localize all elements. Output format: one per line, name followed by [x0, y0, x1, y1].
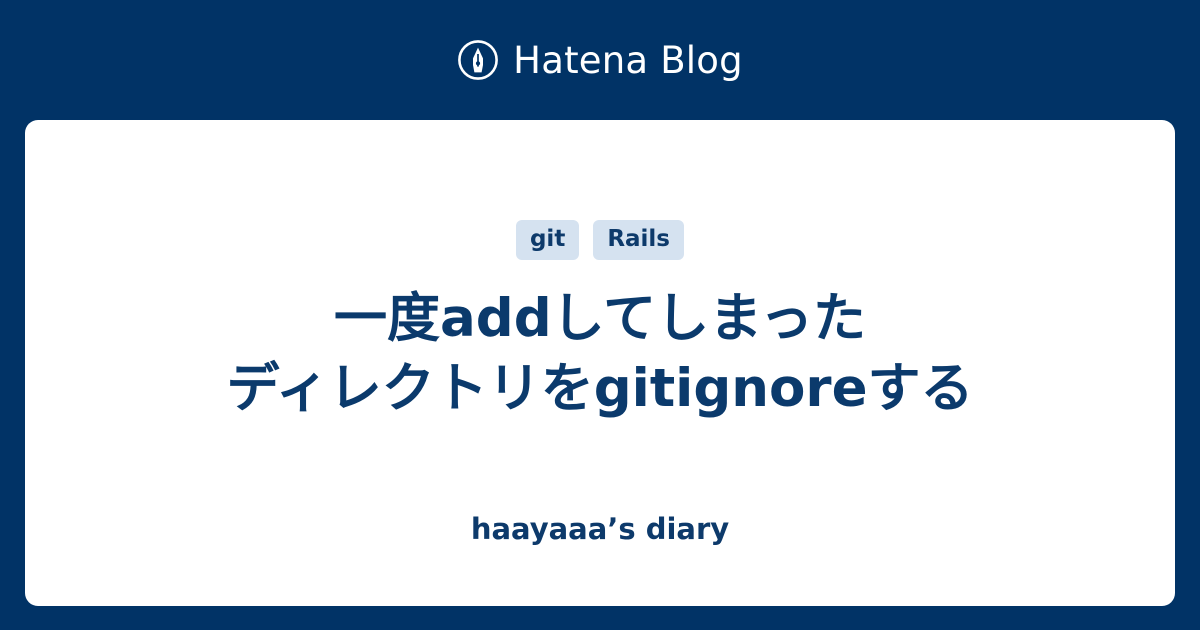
- entry-title: 一度addしてしまった ディレクトリをgitignoreする: [95, 284, 1105, 425]
- tag-rails[interactable]: Rails: [593, 220, 684, 260]
- tag-list: git Rails: [516, 217, 684, 262]
- brand-name: Hatena Blog: [513, 42, 743, 79]
- tag-git[interactable]: git: [516, 220, 579, 260]
- hatena-fountain-pen-icon: [457, 39, 499, 81]
- entry-title-line-1: 一度addしてしまった: [95, 284, 1105, 354]
- entry-card: git Rails 一度addしてしまった ディレクトリをgitignoreする…: [25, 120, 1175, 606]
- hatena-blog-header: Hatena Blog: [0, 0, 1200, 120]
- blog-name[interactable]: haayaaa’s diary: [25, 512, 1175, 547]
- entry-title-line-2: ディレクトリをgitignoreする: [95, 354, 1105, 424]
